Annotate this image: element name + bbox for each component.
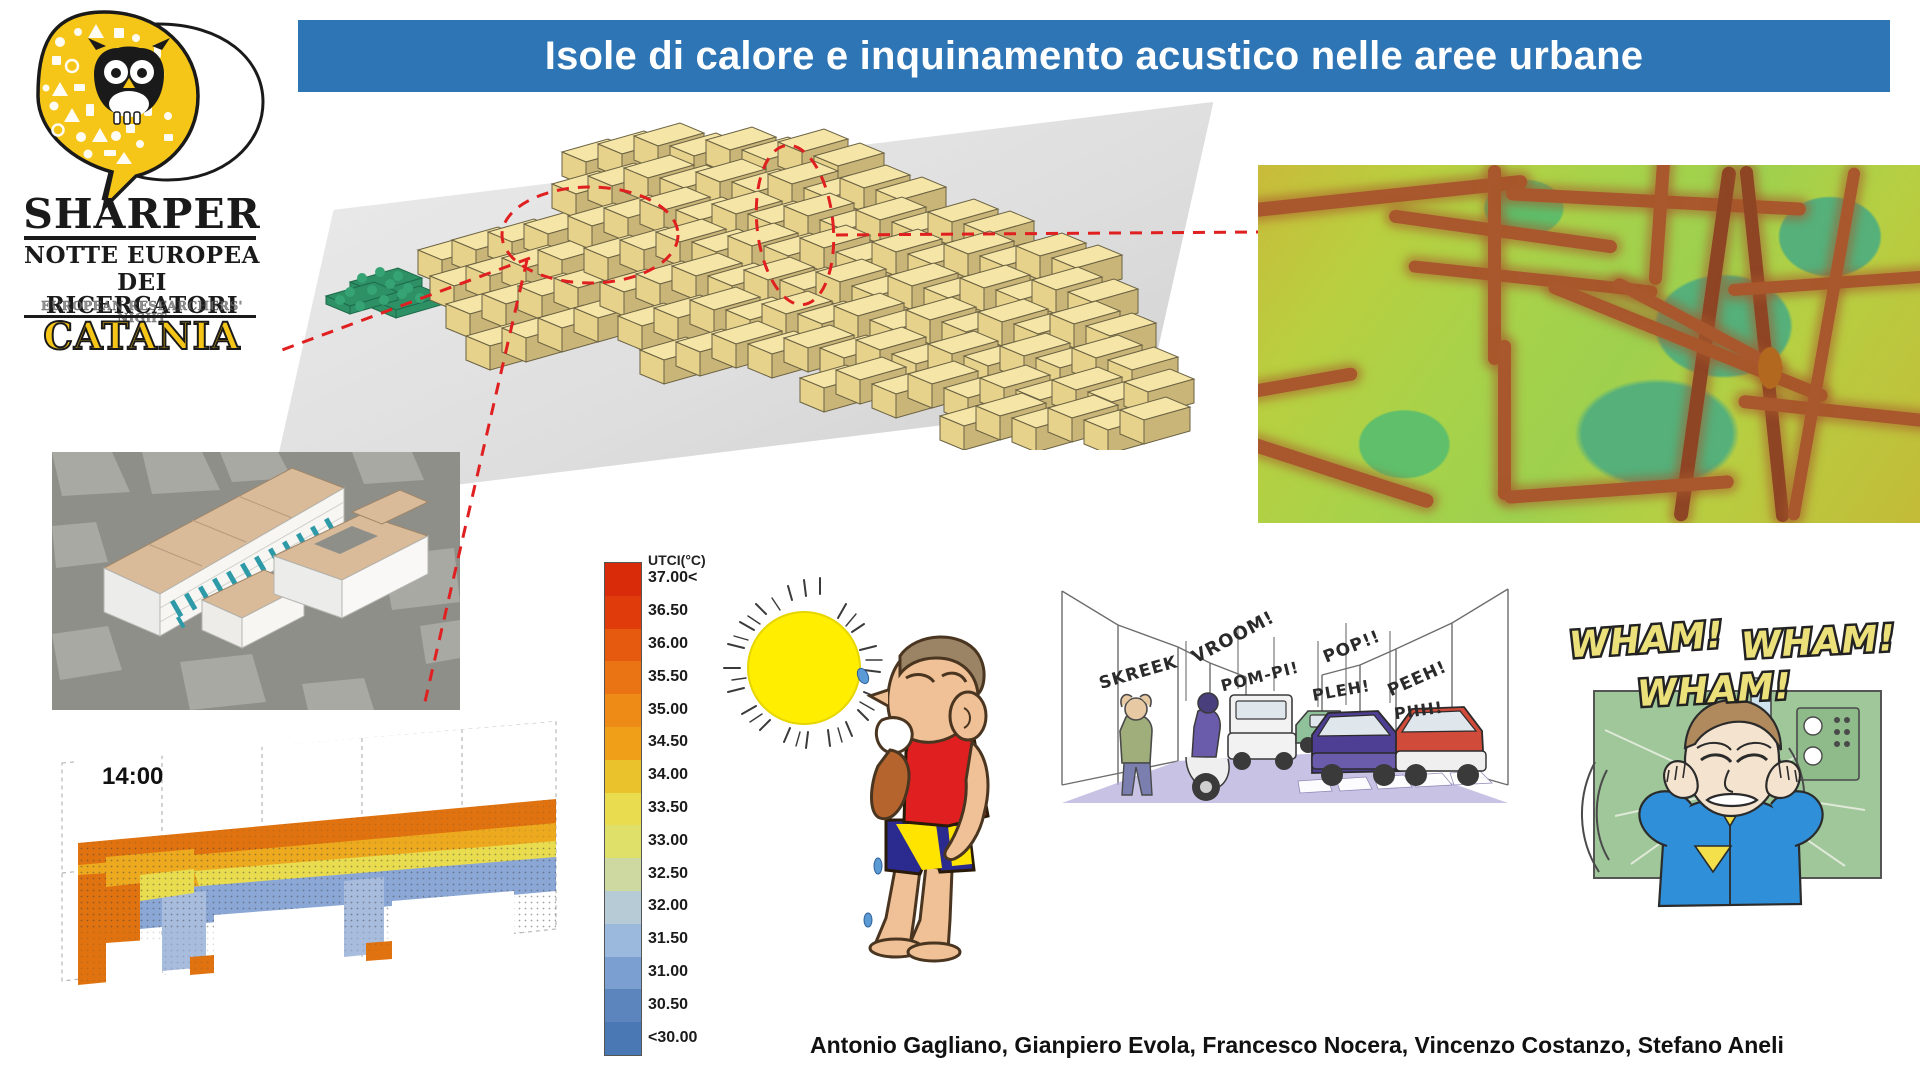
thermal-time-label: 14:00 [102,763,163,791]
utci-color-cell [605,760,641,793]
city-model-figure [300,100,1200,450]
logo-subtitle-line1: NOTTE EUROPEA [22,244,262,267]
heat-cartoon-svg [700,570,1050,970]
utci-color-cell [605,924,641,957]
traffic-cartoon-svg [1060,585,1510,805]
utci-colorbar [604,562,642,1056]
utci-color-cell [605,793,641,826]
utci-tick-label: 35.50 [648,668,688,686]
authors-line: Antonio Gagliano, Gianpiero Evola, Franc… [810,1032,1910,1059]
city-buildings [300,100,1200,450]
sharper-logo: SHARPER NOTTE EUROPEA DEI RICERCATORI EU… [8,4,278,374]
utci-tick-label: 36.50 [648,602,688,620]
thermal-section-plot: 14:00 [44,715,604,1020]
utci-tick-label: 31.50 [648,930,688,948]
title-banner: Isole di calore e inquinamento acustico … [298,20,1890,92]
utci-tick-label: 36.00 [648,635,688,653]
logo-divider-top [24,236,256,240]
owl-icon [8,4,278,214]
utci-tick-label: <30.00 [648,1029,697,1047]
utci-color-cell [605,596,641,629]
utci-tick-label: 32.50 [648,865,688,883]
utci-color-cell [605,1022,641,1055]
utci-color-cell [605,891,641,924]
utci-legend: UTCI(°C) 37.00<36.5036.0035.5035.0034.50… [604,552,704,1062]
logo-city: CATANIA [22,318,262,355]
traffic-noise-cartoon: SKREEK VROOM! POM-PI! POP!! PLEH! PEEH! … [1060,585,1510,805]
utci-color-cell [605,661,641,694]
utci-color-cell [605,629,641,662]
sfx-wham-3: WHAM! [1636,666,1793,715]
utci-tick-label: 32.00 [648,897,688,915]
building-model-svg [52,452,460,710]
utci-color-cell [605,957,641,990]
utci-color-cell [605,858,641,891]
page-title: Isole di calore e inquinamento acustico … [545,34,1643,79]
utci-tick-label: 34.50 [648,733,688,751]
utci-color-cell [605,694,641,727]
utci-legend-title: UTCI(°C) [648,552,706,568]
utci-tick-label: 31.00 [648,963,688,981]
wham-cartoon-svg [1545,620,1920,930]
noise-annoyance-cartoon: WHAM! WHAM! WHAM! [1545,620,1920,930]
utci-tick-label: 35.00 [648,701,688,719]
utci-tick-label: 34.00 [648,766,688,784]
utci-tick-label: 33.50 [648,799,688,817]
noise-contour-map [1258,165,1920,523]
utci-tick-label: 30.50 [648,996,688,1014]
sfx-wham-2: WHAM! [1740,618,1897,667]
utci-color-cell [605,563,641,596]
building-3d-model [52,452,460,710]
logo-sharper-text: SHARPER [22,194,262,235]
utci-tick-label: 37.00< [648,569,697,587]
utci-color-cell [605,989,641,1022]
utci-color-cell [605,825,641,858]
thermal-plot-svg [44,715,604,1020]
heat-stressed-person [700,570,1050,970]
utci-tick-label: 33.00 [648,832,688,850]
utci-color-cell [605,727,641,760]
